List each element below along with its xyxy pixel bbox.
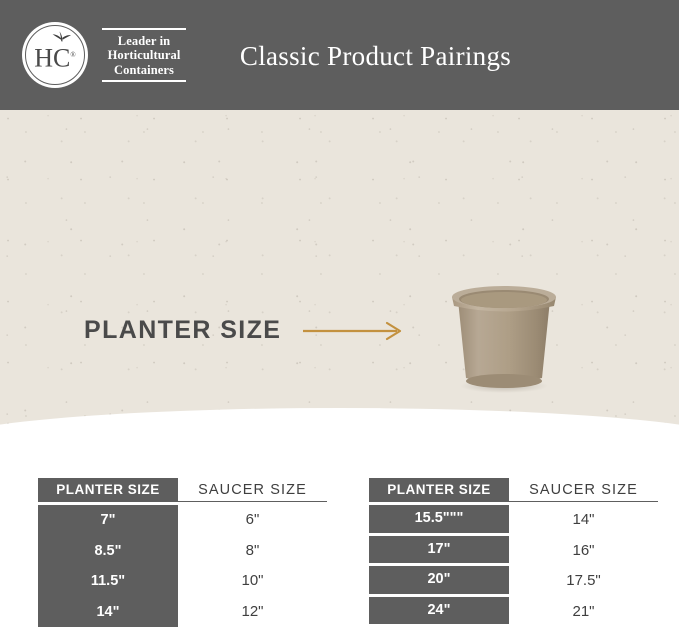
- arrow-right-icon: [301, 320, 405, 342]
- planter-column: PLANTER SIZE 7" 8.5" 11.5" 14": [38, 478, 178, 627]
- small-sizes-table: PLANTER SIZE 7" 8.5" 11.5" 14" SAUCER SI…: [38, 478, 327, 636]
- planter-callout-row: PLANTER SIZE: [84, 316, 405, 345]
- planter-column-header: PLANTER SIZE: [369, 478, 509, 502]
- table-cell: 8.5": [38, 536, 178, 567]
- saucer-column-header: SAUCER SIZE: [509, 478, 658, 502]
- planter-column: PLANTER SIZE 15.5""" 17" 20" 24": [369, 478, 509, 627]
- infographic-page: HC® Leader in Horticultural Containers C…: [0, 0, 679, 636]
- planter-column-body: 15.5""" 17" 20" 24": [369, 505, 509, 624]
- saucer-column: SAUCER SIZE 14" 16" 17.5" 21": [509, 478, 658, 627]
- planter-size-label: PLANTER SIZE: [84, 316, 281, 345]
- table-cell: 14": [38, 597, 178, 628]
- table-cell: 7": [38, 505, 178, 536]
- planter-column-header: PLANTER SIZE: [38, 478, 178, 502]
- table-cell: 14": [509, 505, 658, 536]
- table-cell: 6": [178, 505, 327, 536]
- table-cell: 21": [509, 597, 658, 628]
- planter-pot-image: [444, 282, 564, 394]
- planter-column-body: 7" 8.5" 11.5" 14": [38, 505, 178, 627]
- table-cell: 20": [369, 566, 509, 594]
- table-cell: 8": [178, 536, 327, 567]
- tagline-rule-bottom: [102, 80, 186, 81]
- size-tables: PLANTER SIZE 7" 8.5" 11.5" 14" SAUCER SI…: [0, 478, 679, 636]
- page-header: HC® Leader in Horticultural Containers C…: [0, 0, 679, 110]
- table-cell: 12": [178, 597, 327, 628]
- hero-panel: PLANTER SIZE: [0, 110, 679, 430]
- table-cell: 17.5": [509, 566, 658, 597]
- table-cell: 10": [178, 566, 327, 597]
- paper-texture: [0, 110, 679, 430]
- table-cell: 16": [509, 536, 658, 567]
- table-cell: 17": [369, 536, 509, 564]
- large-sizes-table: PLANTER SIZE 15.5""" 17" 20" 24" SAUCER …: [369, 478, 658, 636]
- saucer-column-header: SAUCER SIZE: [178, 478, 327, 502]
- saucer-column: SAUCER SIZE 6" 8" 10" 12": [178, 478, 327, 627]
- table-cell: 15.5""": [369, 505, 509, 533]
- table-cell: 11.5": [38, 566, 178, 597]
- saucer-column-body: 6" 8" 10" 12": [178, 505, 327, 627]
- table-cell: 24": [369, 597, 509, 625]
- saucer-column-body: 14" 16" 17.5" 21": [509, 505, 658, 627]
- hero-curved-edge: [0, 408, 679, 430]
- page-title: Classic Product Pairings: [0, 41, 679, 72]
